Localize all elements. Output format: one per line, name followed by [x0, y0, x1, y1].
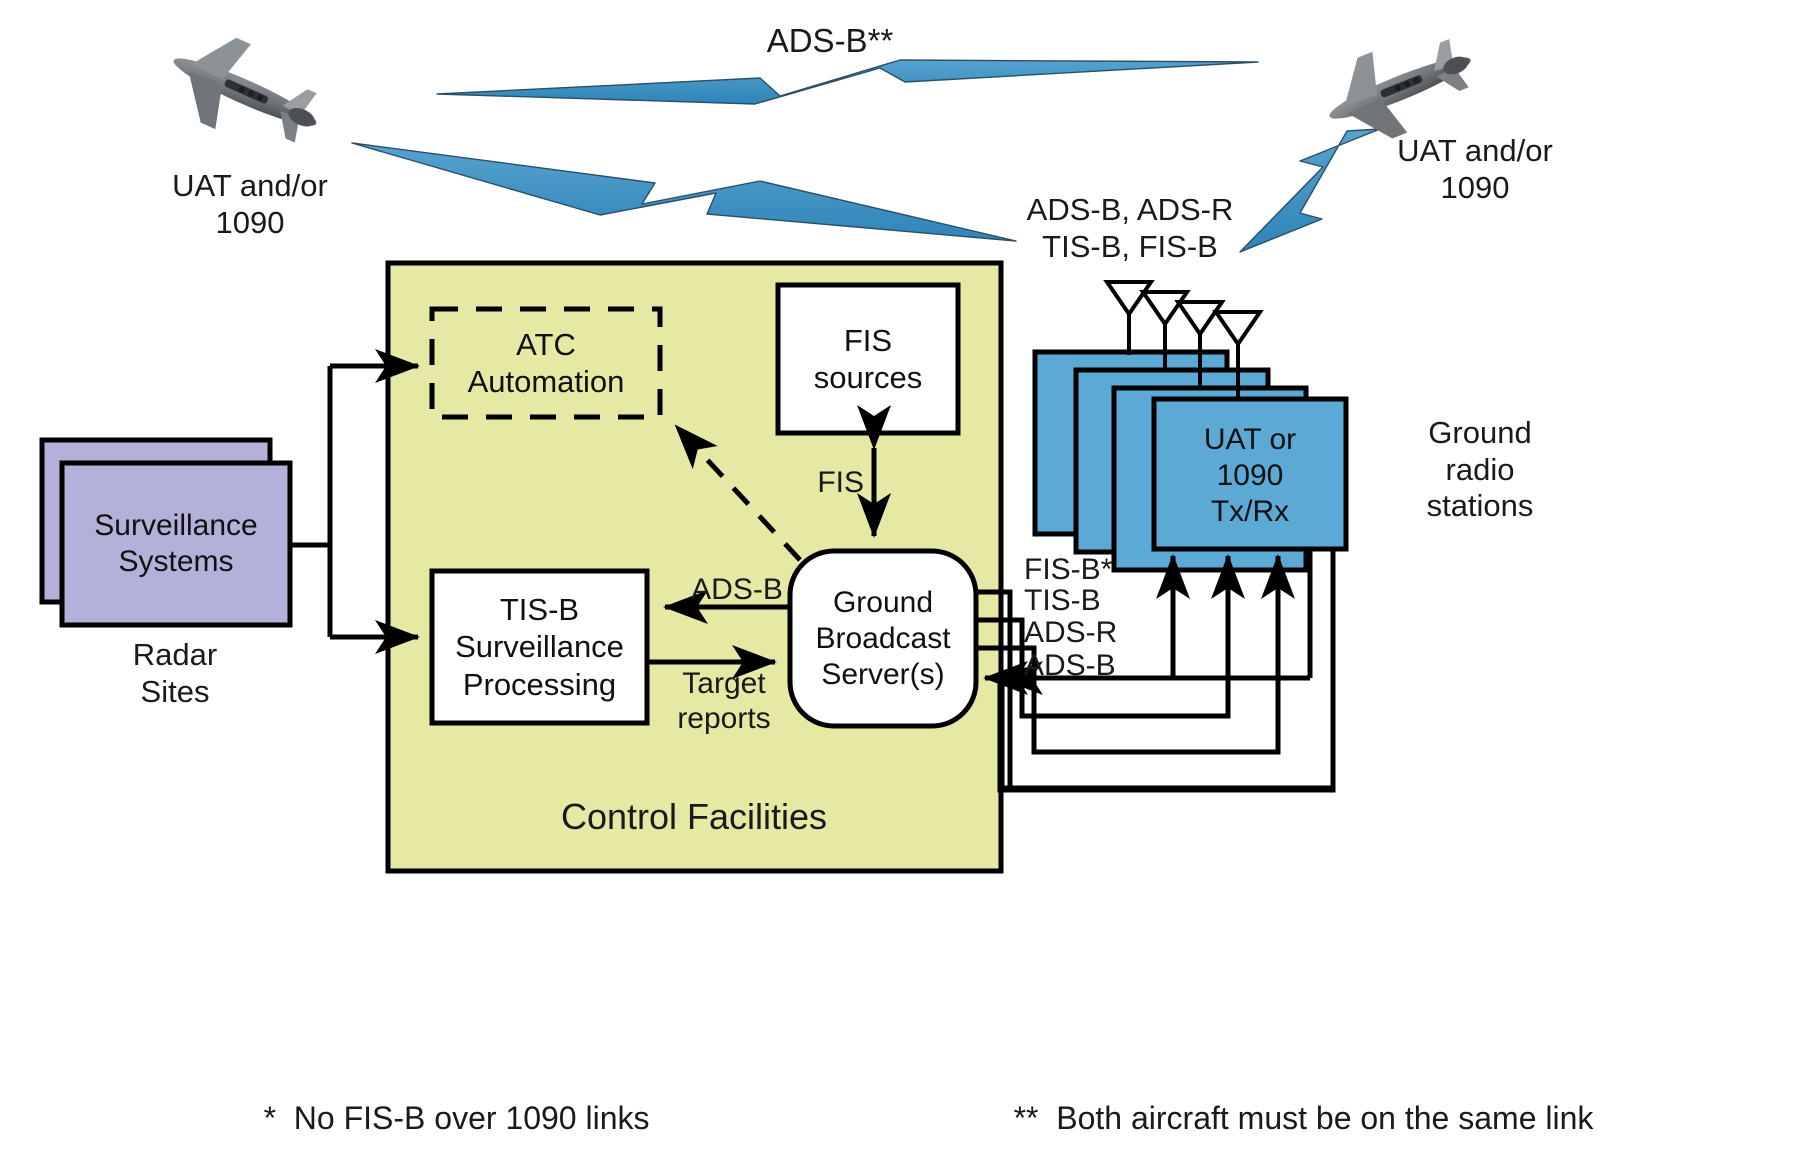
footnote-double-star-marker: ** — [1014, 1100, 1039, 1136]
antenna-icon-1 — [1107, 282, 1151, 355]
ground-to-aircraft-bolt-icon — [1240, 129, 1380, 252]
surveillance-systems-label: Surveillance Systems — [62, 463, 290, 625]
antenna-icon-4 — [1216, 312, 1260, 401]
diagram-canvas: UAT and/or 1090 UAT and/or 1090 ADS-B** … — [0, 0, 1800, 1151]
tis-b-processing-label: TIS-B Surveillance Processing — [432, 571, 647, 723]
ads-b-air-to-air-label: ADS-B** — [700, 22, 960, 61]
ground-link-types-label: ADS-B, ADS-R TIS-B, FIS-B — [1000, 192, 1260, 265]
aircraft-right-label: UAT and/or 1090 — [1365, 133, 1585, 206]
antenna-icon-3 — [1178, 302, 1222, 390]
ads-b-link-label: ADS-B — [1024, 648, 1184, 683]
radar-sites-caption: Radar Sites — [70, 637, 280, 710]
tis-b-link-label: TIS-B — [1024, 583, 1184, 618]
ads-r-link-label: ADS-R — [1024, 615, 1184, 650]
aircraft-left-icon — [155, 18, 335, 165]
ground-radio-station-label: UAT or 1090 Tx/Rx — [1154, 406, 1346, 546]
aircraft-left-label: UAT and/or 1090 — [150, 168, 350, 241]
control-facilities-label: Control Facilities — [444, 796, 944, 838]
ground-radio-stations-caption: Ground radio stations — [1370, 415, 1590, 525]
fis-link-label: FIS — [794, 465, 864, 500]
fis-sources-label: FIS sources — [778, 285, 958, 433]
footnote-double-star: ** Both aircraft must be on the same lin… — [978, 1062, 1738, 1151]
antenna-icon-2 — [1143, 292, 1187, 372]
ads-b-internal-link-label: ADS-B — [672, 572, 802, 607]
surveillance-to-control-connector — [290, 366, 418, 637]
aircraft-to-ground-bolt-icon — [352, 143, 1016, 241]
ads-b-air-to-air-bolt-icon — [437, 60, 1258, 104]
footnote-single-star-text: No FIS-B over 1090 links — [294, 1100, 650, 1136]
ground-broadcast-server-label: Ground Broadcast Server(s) — [790, 551, 976, 726]
target-reports-link-label: Target reports — [664, 666, 784, 737]
footnote-single-star-marker: * — [264, 1100, 276, 1136]
gbs-to-atc-dashed-connector — [676, 426, 800, 560]
atc-automation-label: ATC Automation — [432, 309, 660, 417]
footnote-single-star: * No FIS-B over 1090 links — [228, 1062, 848, 1151]
footnote-double-star-text: Both aircraft must be on the same link — [1056, 1100, 1593, 1136]
